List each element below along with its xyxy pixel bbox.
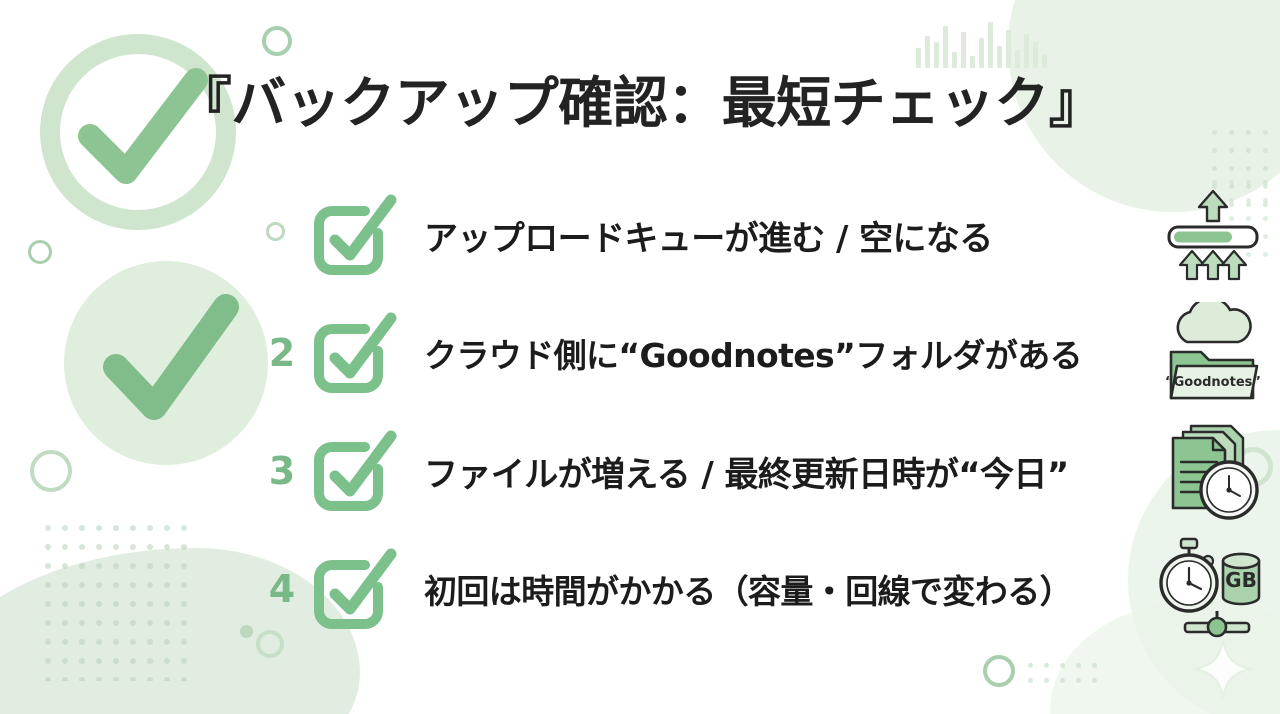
page-title: 『バックアップ確認：最短チェック』 bbox=[0, 58, 1280, 138]
storage-label: GB bbox=[1225, 568, 1257, 592]
sparkle-icon bbox=[1192, 638, 1254, 705]
list-item[interactable]: 4 初回は時間がかかる（容量・回線で変わる） bbox=[262, 530, 1268, 648]
list-item-label: クラウド側に“Goodnotes”フォルダがある bbox=[424, 329, 1152, 377]
list-item-number: 2 bbox=[262, 334, 302, 372]
checkbox-check-icon[interactable] bbox=[306, 423, 402, 519]
checkbox-check-icon[interactable] bbox=[306, 187, 402, 283]
upload-progress-icon bbox=[1158, 183, 1268, 287]
ring-outline-decoration-4 bbox=[30, 450, 72, 492]
circle-check-filled-icon bbox=[58, 255, 278, 480]
list-item-number: 3 bbox=[262, 452, 302, 490]
list-item[interactable]: 2 クラウド側に“Goodnotes”フォルダがある “Goodnotes” bbox=[262, 294, 1268, 412]
checkbox-check-icon[interactable] bbox=[306, 305, 402, 401]
checkbox-check-icon[interactable] bbox=[306, 541, 402, 637]
dot-grid-pattern-bottom-right bbox=[1028, 663, 1108, 698]
list-item-label: 初回は時間がかかる（容量・回線で変わる） bbox=[424, 565, 1152, 613]
folder-label: “Goodnotes” bbox=[1165, 375, 1261, 390]
list-item[interactable]: 3 ファイルが増える / 最終更新日時が“今日” bbox=[262, 412, 1268, 530]
list-item[interactable]: アップロードキューが進む / 空になる bbox=[262, 176, 1268, 294]
dot-grid-pattern-bottom-left bbox=[45, 525, 195, 690]
dot-decoration-1 bbox=[240, 625, 253, 638]
documents-clock-icon bbox=[1158, 419, 1268, 523]
list-item-label: ファイルが増える / 最終更新日時が“今日” bbox=[424, 447, 1152, 496]
checklist: アップロードキューが進む / 空になる 2 bbox=[262, 176, 1268, 648]
slide-canvas: 『バックアップ確認：最短チェック』 アップロードキューが進む / 空になる bbox=[0, 0, 1280, 714]
cloud-folder-icon: “Goodnotes” bbox=[1158, 301, 1268, 405]
stopwatch-storage-icon: GB bbox=[1158, 537, 1268, 641]
list-item-number: 4 bbox=[262, 570, 302, 608]
ring-outline-decoration-1 bbox=[262, 26, 292, 56]
ring-outline-decoration-6 bbox=[983, 655, 1015, 687]
list-item-label: アップロードキューが進む / 空になる bbox=[424, 211, 1152, 260]
ring-outline-decoration-3 bbox=[28, 240, 52, 264]
